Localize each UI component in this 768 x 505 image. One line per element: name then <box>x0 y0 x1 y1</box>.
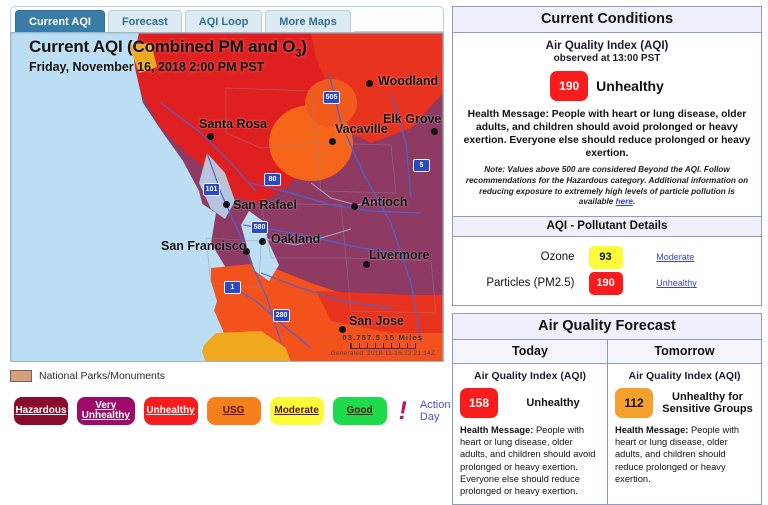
forecast-panel: Air Quality Forecast Today Air Quality I… <box>452 313 762 505</box>
forecast-today-badge-row: 158 Unhealthy <box>460 388 600 418</box>
tab-current-aqi[interactable]: Current AQI <box>15 10 105 32</box>
forecast-tomorrow-column: Tomorrow Air Quality Index (AQI) 112 Unh… <box>607 340 761 505</box>
map-title: Current AQI (Combined PM and O3) <box>29 37 307 59</box>
city-dot <box>207 133 214 140</box>
map-scale-bar: 03.757.5 15 Miles Generated: 2018-11-16 … <box>331 333 435 357</box>
pollutant-row: Particles (PM2.5)190Unhealthy <box>453 272 761 295</box>
note-period: . <box>633 197 635 206</box>
aqi-map[interactable]: Current AQI (Combined PM and O3) Friday,… <box>10 32 444 362</box>
forecast-tomorrow-msg-bold: Health Message: <box>615 425 688 435</box>
current-conditions-heading: Current Conditions <box>453 7 761 33</box>
action-day-label[interactable]: Action Day <box>420 399 452 423</box>
highway-shield-505: 505 <box>323 91 340 104</box>
city-dot <box>366 80 373 87</box>
scale-ticks <box>350 343 416 349</box>
forecast-tomorrow-value-badge: 112 <box>615 388 653 418</box>
tab-aqi-loop[interactable]: AQI Loop <box>185 10 263 32</box>
tab-bar: Current AQI Forecast AQI Loop More Maps <box>10 6 444 32</box>
city-label: Santa Rosa <box>199 117 267 131</box>
map-title-close: ) <box>301 37 306 56</box>
tab-label: Current AQI <box>29 16 91 28</box>
forecast-today-msg-text: People with heart or lung disease, older… <box>460 425 595 496</box>
pollutant-name: Particles (PM2.5) <box>453 277 589 289</box>
current-aqi-label: Air Quality Index (AQI) <box>462 40 752 52</box>
pollutant-details-heading: AQI - Pollutant Details <box>453 216 761 237</box>
parks-legend: National Parks/Monuments <box>10 367 444 385</box>
city-label: Vacaville <box>335 122 388 136</box>
legend-pill-very-unhealthy[interactable]: Very Unhealthy <box>77 397 135 425</box>
pollutant-value-badge: 190 <box>589 272 623 295</box>
action-day-icon: ! <box>399 401 407 421</box>
map-title-block: Current AQI (Combined PM and O3) Friday,… <box>29 37 307 74</box>
pollutant-name: Ozone <box>453 251 589 263</box>
city-label: Livermore <box>369 248 429 262</box>
current-observed-time: observed at 13:00 PST <box>462 53 752 64</box>
forecast-tomorrow-category: Unhealthy for Sensitive Groups <box>661 391 754 416</box>
forecast-today-msg-bold: Health Message: <box>460 425 533 435</box>
forecast-tomorrow-badge-row: 112 Unhealthy for Sensitive Groups <box>615 388 754 418</box>
current-aqi-badge-row: 190 Unhealthy <box>462 71 752 101</box>
parks-legend-label: National Parks/Monuments <box>39 370 165 382</box>
forecast-today-day: Today <box>453 340 607 364</box>
highway-shield-580: 580 <box>251 221 268 234</box>
forecast-today-category: Unhealthy <box>506 397 600 409</box>
note-here-link[interactable]: here <box>616 197 633 206</box>
tab-label: More Maps <box>279 16 336 28</box>
city-label: San Rafael <box>233 198 297 212</box>
forecast-tomorrow-day: Tomorrow <box>608 340 761 364</box>
forecast-heading: Air Quality Forecast <box>453 314 761 340</box>
pollutant-category-link[interactable]: Moderate <box>656 252 694 262</box>
parks-color-swatch <box>10 370 32 382</box>
city-label: Oakland <box>271 232 320 246</box>
city-label: Antioch <box>361 195 408 209</box>
map-title-text: Current AQI (Combined PM and O <box>29 37 295 56</box>
forecast-columns: Today Air Quality Index (AQI) 158 Unheal… <box>453 340 761 505</box>
highway-shield-1: 1 <box>224 281 241 294</box>
air-quality-page: Current AQI Forecast AQI Loop More Maps <box>0 0 768 443</box>
legend-pill-moderate[interactable]: Moderate <box>270 397 324 425</box>
note-text: Note: Values above 500 are considered Be… <box>466 165 748 206</box>
forecast-tomorrow-aqi-label: Air Quality Index (AQI) <box>615 370 754 382</box>
city-dot <box>329 138 336 145</box>
map-generated-timestamp: Generated: 2018-11-16 22:21:14Z <box>331 350 435 357</box>
forecast-today-health-message: Health Message: People with heart or lun… <box>460 424 600 498</box>
city-dot <box>431 128 438 135</box>
highway-shield-280: 280 <box>273 309 290 322</box>
aqi-category-legend: HazardousVery UnhealthyUnhealthyUSGModer… <box>14 397 452 425</box>
map-date: Friday, November 16, 2018 2:00 PM PST <box>29 60 307 74</box>
legend-pill-hazardous[interactable]: Hazardous <box>14 397 68 425</box>
highway-shield-101: 101 <box>203 183 220 196</box>
pollutant-value-badge: 93 <box>589 246 623 269</box>
city-dot <box>339 326 346 333</box>
forecast-today-body: Air Quality Index (AQI) 158 Unhealthy He… <box>453 364 607 505</box>
city-dot <box>259 238 266 245</box>
forecast-today-column: Today Air Quality Index (AQI) 158 Unheal… <box>453 340 607 505</box>
scale-numbers: 03.757.5 15 Miles <box>331 333 435 342</box>
forecast-tomorrow-body: Air Quality Index (AQI) 112 Unhealthy fo… <box>608 364 761 492</box>
info-column: Current Conditions Air Quality Index (AQ… <box>452 0 768 443</box>
city-label: San Jose <box>349 314 404 328</box>
tab-more-maps[interactable]: More Maps <box>265 10 350 32</box>
current-aqi-category: Unhealthy <box>596 79 664 94</box>
tab-forecast[interactable]: Forecast <box>108 10 182 32</box>
city-dot <box>363 261 370 268</box>
pollutant-row: Ozone93Moderate <box>453 246 761 269</box>
tab-label: AQI Loop <box>199 16 249 28</box>
highway-shield-5: 5 <box>413 159 430 172</box>
forecast-today-value-badge: 158 <box>460 388 498 418</box>
current-conditions-panel: Current Conditions Air Quality Index (AQ… <box>452 6 762 306</box>
current-aqi-note: Note: Values above 500 are considered Be… <box>462 165 752 208</box>
legend-pill-usg[interactable]: USG <box>207 397 261 425</box>
legend-pill-unhealthy[interactable]: Unhealthy <box>144 397 198 425</box>
city-label: San Francisco <box>161 239 246 253</box>
current-conditions-body: Air Quality Index (AQI) observed at 13:0… <box>453 33 761 216</box>
pollutant-category-link[interactable]: Unhealthy <box>656 278 697 288</box>
pollutant-badge-cell: 190 <box>589 272 657 295</box>
city-label: Elk Grove <box>383 112 441 126</box>
tab-bar-filler <box>354 10 443 32</box>
legend-pill-good[interactable]: Good <box>333 397 387 425</box>
current-health-message: Health Message: People with heart or lun… <box>462 108 752 160</box>
current-aqi-value-badge: 190 <box>550 71 588 101</box>
city-dot <box>223 201 230 208</box>
map-column: Current AQI Forecast AQI Loop More Maps <box>0 0 452 443</box>
city-dot <box>351 203 358 210</box>
forecast-tomorrow-health-message: Health Message: People with heart or lun… <box>615 424 754 485</box>
highway-shield-80: 80 <box>264 173 281 186</box>
pollutant-badge-cell: 93 <box>589 246 657 269</box>
city-label: Woodland <box>378 74 438 88</box>
tab-label: Forecast <box>122 16 168 28</box>
pollutant-details-table: Ozone93ModerateParticles (PM2.5)190Unhea… <box>453 237 761 305</box>
forecast-today-aqi-label: Air Quality Index (AQI) <box>460 370 600 382</box>
